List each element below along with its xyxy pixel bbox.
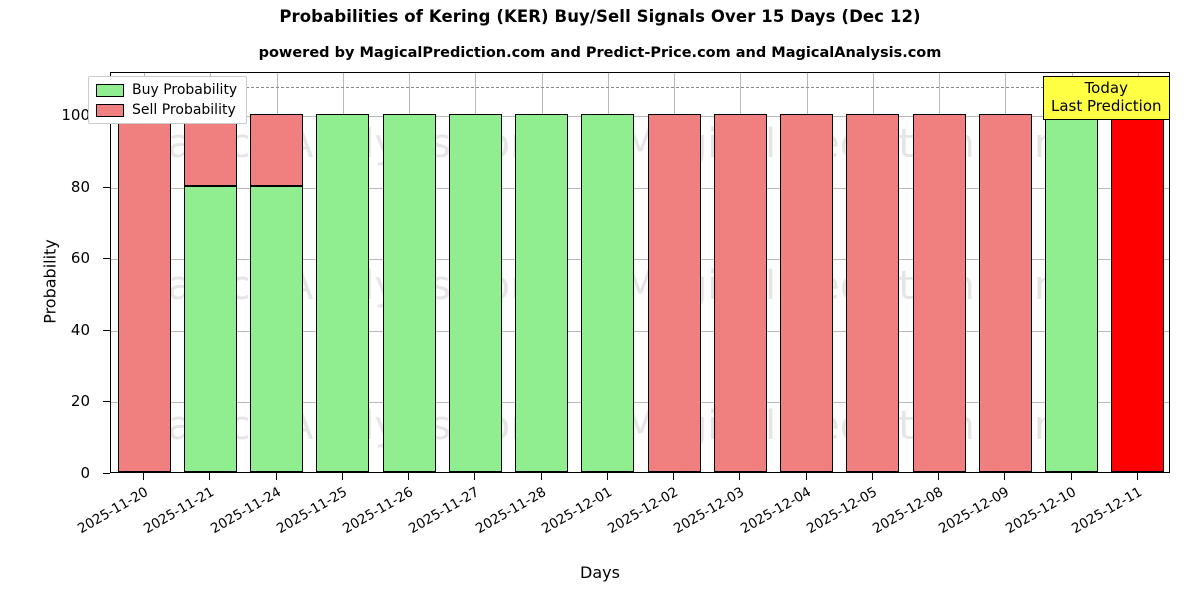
bar-group[interactable] (979, 73, 1032, 472)
x-tick-mark (872, 473, 873, 480)
bar-group[interactable] (449, 73, 502, 472)
bar-segment-buy[interactable] (383, 114, 436, 472)
x-tick-mark (1071, 473, 1072, 480)
bar-segment-buy[interactable] (316, 114, 369, 472)
bar-segment-sell[interactable] (714, 114, 767, 472)
today-annotation-line1: Today (1051, 80, 1162, 98)
bar-segment-sell[interactable] (780, 114, 833, 472)
x-axis-label: Days (0, 563, 1200, 582)
bar-segment-buy[interactable] (250, 186, 303, 472)
today-annotation-line2: Last Prediction (1051, 98, 1162, 116)
x-tick-mark (143, 473, 144, 480)
x-tick-mark (276, 473, 277, 480)
legend-label: Sell Probability (132, 102, 236, 118)
bar-group[interactable] (316, 73, 369, 472)
bar-group[interactable] (648, 73, 701, 472)
bar-segment-buy[interactable] (515, 114, 568, 472)
bar-segment-sell[interactable] (913, 114, 966, 472)
legend-swatch-buy (96, 84, 124, 97)
bar-segment-sell[interactable] (118, 114, 171, 472)
bar-segment-buy[interactable] (1045, 114, 1098, 472)
x-tick-mark (1137, 473, 1138, 480)
plot-area: MagicalAnalysis.comMagicalAnalysis.comMa… (110, 72, 1170, 473)
y-axis-label: Probability (41, 82, 60, 482)
x-tick-mark (739, 473, 740, 480)
y-tick-mark (103, 401, 110, 402)
bar-segment-sell[interactable] (846, 114, 899, 472)
x-tick-mark (938, 473, 939, 480)
bar-group[interactable] (250, 73, 303, 472)
y-tick-mark (103, 187, 110, 188)
chart-title: Probabilities of Kering (KER) Buy/Sell S… (0, 7, 1200, 26)
legend-label: Buy Probability (132, 82, 237, 98)
bar-group[interactable] (581, 73, 634, 472)
x-tick-mark (673, 473, 674, 480)
legend-item[interactable]: Sell Probability (96, 102, 237, 118)
bar-group[interactable] (515, 73, 568, 472)
y-tick-mark (103, 330, 110, 331)
bar-group[interactable] (846, 73, 899, 472)
x-tick-mark (474, 473, 475, 480)
bar-group[interactable] (780, 73, 833, 472)
x-tick-mark (1004, 473, 1005, 480)
x-tick-mark (541, 473, 542, 480)
today-annotation: Today Last Prediction (1043, 76, 1170, 120)
bar-segment-sell[interactable] (250, 114, 303, 186)
y-tick-label: 0 (30, 464, 90, 482)
x-tick-mark (806, 473, 807, 480)
y-tick-mark (103, 258, 110, 259)
bar-segment-sell[interactable] (648, 114, 701, 472)
bar-segment-sell[interactable] (184, 114, 237, 186)
bar-segment-buy[interactable] (449, 114, 502, 472)
bar-segment-buy[interactable] (581, 114, 634, 472)
bar-group[interactable] (1111, 73, 1164, 472)
x-tick-mark (209, 473, 210, 480)
y-tick-label: 40 (30, 321, 90, 339)
chart-subtitle: powered by MagicalPrediction.com and Pre… (0, 45, 1200, 61)
bar-segment-today[interactable] (1111, 114, 1164, 472)
plot-inner: MagicalAnalysis.comMagicalAnalysis.comMa… (111, 73, 1169, 472)
bar-segment-buy[interactable] (184, 186, 237, 472)
bar-group[interactable] (1045, 73, 1098, 472)
x-tick-mark (342, 473, 343, 480)
y-tick-label: 20 (30, 392, 90, 410)
bar-group[interactable] (913, 73, 966, 472)
y-tick-label: 100 (30, 106, 90, 124)
bar-group[interactable] (714, 73, 767, 472)
legend-swatch-sell (96, 104, 124, 117)
bar-group[interactable] (184, 73, 237, 472)
chart-legend: Buy ProbabilitySell Probability (88, 76, 247, 124)
x-tick-mark (607, 473, 608, 480)
bar-group[interactable] (118, 73, 171, 472)
chart-figure: Probabilities of Kering (KER) Buy/Sell S… (0, 0, 1200, 600)
x-tick-mark (408, 473, 409, 480)
y-tick-mark (103, 473, 110, 474)
bar-group[interactable] (383, 73, 436, 472)
legend-item[interactable]: Buy Probability (96, 82, 237, 98)
y-tick-label: 80 (30, 178, 90, 196)
bar-segment-sell[interactable] (979, 114, 1032, 472)
y-tick-label: 60 (30, 249, 90, 267)
